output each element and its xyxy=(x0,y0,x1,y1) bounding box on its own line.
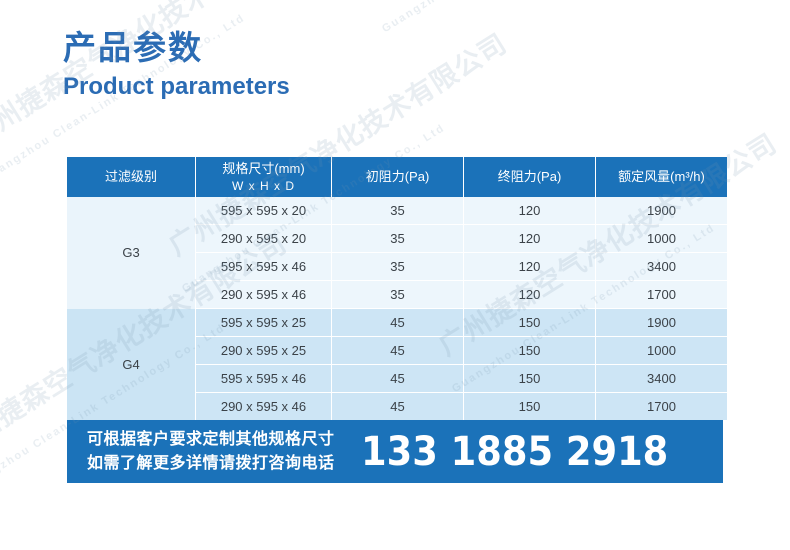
table-row: G3595 x 595 x 20351201900 xyxy=(67,197,727,225)
cell-size: 595 x 595 x 20 xyxy=(196,197,332,225)
cell-filter-grade: G3 xyxy=(67,197,196,309)
cell-final-resistance: 120 xyxy=(464,225,596,253)
cell-size: 290 x 595 x 46 xyxy=(196,393,332,421)
column-header-filter-grade: 过滤级别 xyxy=(67,157,196,197)
page-title-en: Product parameters xyxy=(63,72,290,102)
cell-initial-resistance: 45 xyxy=(332,365,464,393)
cell-initial-resistance: 35 xyxy=(332,281,464,309)
cell-initial-resistance: 45 xyxy=(332,309,464,337)
cell-final-resistance: 150 xyxy=(464,309,596,337)
cell-initial-resistance: 45 xyxy=(332,393,464,421)
cell-size: 595 x 595 x 46 xyxy=(196,253,332,281)
cell-rated-airflow: 1900 xyxy=(596,197,728,225)
cell-size: 290 x 595 x 46 xyxy=(196,281,332,309)
column-header-final-resistance: 终阻力(Pa) xyxy=(464,157,596,197)
page-title-cn: 产品参数 xyxy=(63,27,290,68)
cta-phone-number[interactable]: 133 1885 2918 xyxy=(361,429,668,475)
column-header-label: 过滤级别 xyxy=(105,169,157,184)
cell-final-resistance: 120 xyxy=(464,253,596,281)
specification-table: 过滤级别 规格尺寸(mm) W x H x D 初阻力(Pa) 终阻力(Pa) … xyxy=(67,157,727,420)
cell-rated-airflow: 1900 xyxy=(596,309,728,337)
column-header-label: 初阻力(Pa) xyxy=(366,169,430,184)
cell-size: 290 x 595 x 20 xyxy=(196,225,332,253)
cta-line-2: 如需了解更多详情请拨打咨询电话 xyxy=(87,452,335,475)
cell-rated-airflow: 1700 xyxy=(596,393,728,421)
cell-size: 595 x 595 x 46 xyxy=(196,365,332,393)
cell-final-resistance: 150 xyxy=(464,365,596,393)
column-header-initial-resistance: 初阻力(Pa) xyxy=(332,157,464,197)
cell-final-resistance: 120 xyxy=(464,197,596,225)
table-body: G3595 x 595 x 20351201900290 x 595 x 203… xyxy=(67,197,727,420)
cell-final-resistance: 120 xyxy=(464,281,596,309)
cell-rated-airflow: 1700 xyxy=(596,281,728,309)
cell-initial-resistance: 35 xyxy=(332,197,464,225)
cell-rated-airflow: 3400 xyxy=(596,253,728,281)
column-header-label: 终阻力(Pa) xyxy=(498,169,562,184)
cell-initial-resistance: 35 xyxy=(332,225,464,253)
column-header-sublabel: W x H x D xyxy=(196,178,331,194)
column-header-label: 额定风量(m³/h) xyxy=(618,169,705,184)
cell-filter-grade: G4 xyxy=(67,309,196,421)
cell-initial-resistance: 35 xyxy=(332,253,464,281)
cell-final-resistance: 150 xyxy=(464,393,596,421)
cta-line-1: 可根据客户要求定制其他规格尺寸 xyxy=(87,428,335,451)
table-header-row: 过滤级别 规格尺寸(mm) W x H x D 初阻力(Pa) 终阻力(Pa) … xyxy=(67,157,727,197)
cell-initial-resistance: 45 xyxy=(332,337,464,365)
column-header-rated-airflow: 额定风量(m³/h) xyxy=(596,157,728,197)
cell-size: 595 x 595 x 25 xyxy=(196,309,332,337)
cell-rated-airflow: 1000 xyxy=(596,337,728,365)
product-parameters-page: 产品参数 Product parameters 过滤级别 规格尺寸(mm) W … xyxy=(0,0,790,550)
table-row: G4595 x 595 x 25451501900 xyxy=(67,309,727,337)
cell-rated-airflow: 1000 xyxy=(596,225,728,253)
cta-banner: 可根据客户要求定制其他规格尺寸 如需了解更多详情请拨打咨询电话 133 1885… xyxy=(67,420,723,483)
cta-text-block: 可根据客户要求定制其他规格尺寸 如需了解更多详情请拨打咨询电话 xyxy=(87,428,335,474)
table-header: 过滤级别 规格尺寸(mm) W x H x D 初阻力(Pa) 终阻力(Pa) … xyxy=(67,157,727,197)
cell-rated-airflow: 3400 xyxy=(596,365,728,393)
cell-size: 290 x 595 x 25 xyxy=(196,337,332,365)
page-title: 产品参数 Product parameters xyxy=(63,27,290,102)
column-header-label: 规格尺寸(mm) xyxy=(222,161,304,176)
cell-final-resistance: 150 xyxy=(464,337,596,365)
column-header-size: 规格尺寸(mm) W x H x D xyxy=(196,157,332,197)
